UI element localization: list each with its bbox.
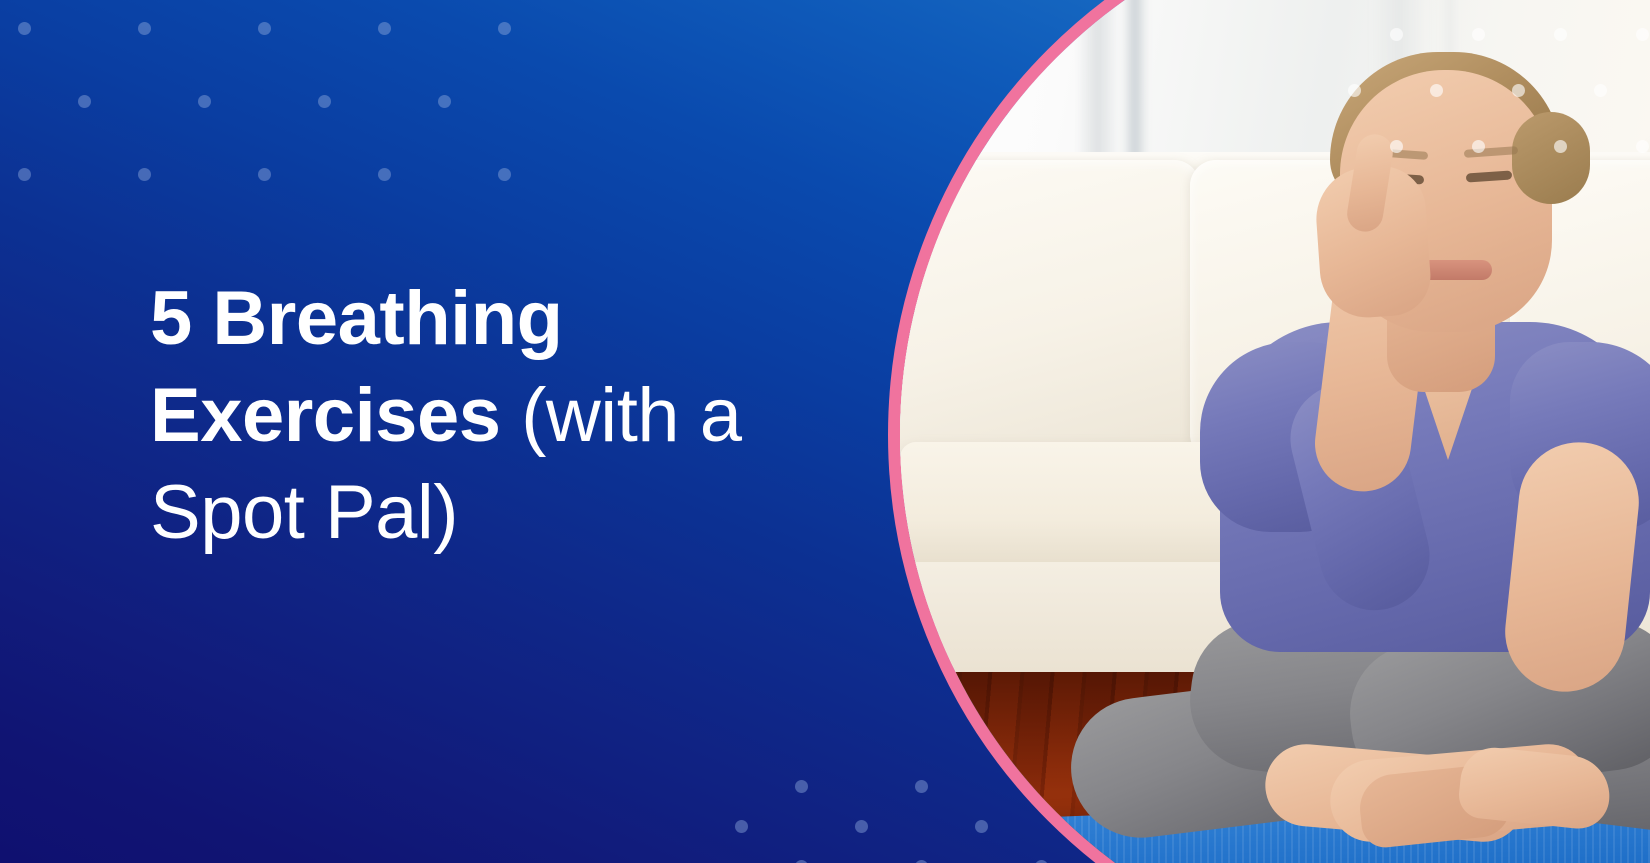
dot (258, 22, 271, 35)
dot (138, 168, 151, 181)
dot (18, 168, 31, 181)
dot (498, 168, 511, 181)
headline-line-2-light: (with a (501, 373, 742, 458)
dot (795, 780, 808, 793)
dot (258, 168, 271, 181)
dot (438, 95, 451, 108)
headline-line-1: 5 Breathing (150, 276, 563, 361)
dot (18, 22, 31, 35)
dot (498, 22, 511, 35)
dot (378, 22, 391, 35)
dot (855, 820, 868, 833)
dot-pattern-top-left-icon (18, 22, 488, 282)
hair-bun (1512, 112, 1590, 204)
mouth (1420, 260, 1492, 280)
dot (138, 22, 151, 35)
page-title: 5 Breathing Exercises (with a Spot Pal) (150, 271, 840, 562)
headline-line-2-bold: Exercises (150, 373, 501, 458)
hero-photo (900, 0, 1650, 863)
dot (198, 95, 211, 108)
headline-line-3: Spot Pal) (150, 470, 458, 555)
woman-meditating (900, 0, 1650, 863)
dot (735, 820, 748, 833)
breathing-exercises-banner: 5 Breathing Exercises (with a Spot Pal) (0, 0, 1650, 863)
dot (78, 95, 91, 108)
hero-photo-circle (888, 0, 1650, 863)
dot (318, 95, 331, 108)
dot (378, 168, 391, 181)
